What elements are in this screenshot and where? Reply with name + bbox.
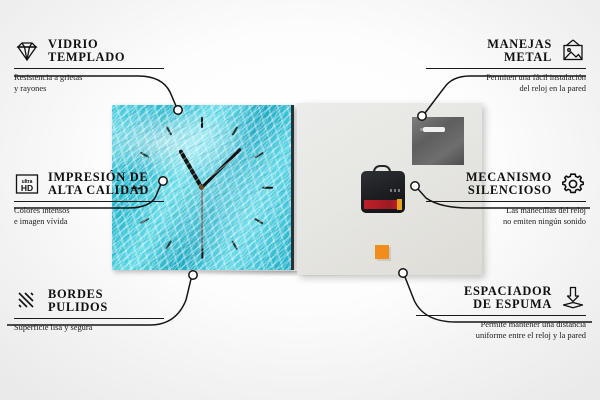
polished-edges-icon [14, 288, 40, 314]
feature-title: ESPACIADOR DE ESPUMA [464, 285, 552, 312]
clock-tick [262, 187, 273, 189]
feature-title-line2: METAL [487, 51, 552, 64]
feature-rule [14, 201, 164, 202]
feature-title: BORDES PULIDOS [48, 288, 108, 315]
feature-description: Permiten una fácil instalación del reloj… [426, 72, 586, 94]
feature-rule [426, 68, 586, 69]
ultra-hd-icon: ultra HD [14, 171, 40, 197]
clock-hour-hand [178, 149, 204, 189]
infographic-canvas: VIDRIO TEMPLADO Resistencia a grietas y … [0, 0, 600, 400]
clock-tick [254, 152, 263, 158]
clock-minute-hand [200, 148, 241, 189]
feature-rule [426, 201, 586, 202]
feature-description: Las manecillas del reloj no emiten ningú… [426, 205, 586, 227]
feature-title-line1: VIDRIO [48, 38, 125, 51]
quartz-movement-box [361, 171, 405, 213]
feature-impresion-alta-calidad: ultra HD IMPRESIÓN DE ALTA CALIDAD Color… [14, 171, 164, 227]
clock-center-pin [199, 185, 204, 190]
feature-title: MECANISMO SILENCIOSO [466, 171, 552, 198]
feature-bordes-pulidos: BORDES PULIDOS Superficie lisa y segura [14, 288, 164, 333]
clock-tick [140, 152, 149, 158]
feature-espaciador-espuma: ESPACIADOR DE ESPUMA Permite mantener un… [416, 285, 586, 341]
feature-title-line2: PULIDOS [48, 301, 108, 314]
foam-spacer-pad [375, 245, 389, 259]
battery-label [364, 200, 398, 209]
feature-title-line2: DE ESPUMA [464, 298, 552, 311]
feature-title-line2: SILENCIOSO [466, 184, 552, 197]
clock-tick [201, 117, 203, 128]
clock-tick [165, 126, 171, 135]
feature-title-line1: ESPACIADOR [464, 285, 552, 298]
feature-title-line1: IMPRESIÓN DE [48, 171, 149, 184]
clock-tick [165, 240, 171, 249]
metal-hanger-plate [412, 117, 464, 165]
svg-text:HD: HD [21, 183, 33, 193]
diamond-icon [14, 38, 40, 64]
clock-tick [201, 248, 203, 259]
clock-tick [231, 240, 237, 249]
feature-vidrio-templado: VIDRIO TEMPLADO Resistencia a grietas y … [14, 38, 164, 94]
feature-title: IMPRESIÓN DE ALTA CALIDAD [48, 171, 149, 198]
movement-hook [373, 165, 391, 174]
feature-description: Superficie lisa y segura [14, 322, 164, 333]
gear-icon [560, 171, 586, 197]
feature-title-line2: ALTA CALIDAD [48, 184, 149, 197]
feature-rule [14, 68, 164, 69]
hanger-slot [423, 127, 445, 132]
clock-tick [254, 218, 263, 224]
picture-frame-icon [560, 38, 586, 64]
feature-title: MANEJAS METAL [487, 38, 552, 65]
feature-title-line1: MANEJAS [487, 38, 552, 51]
feature-mecanismo-silencioso: MECANISMO SILENCIOSO Las manecillas del … [426, 171, 586, 227]
feature-title-line1: BORDES [48, 288, 108, 301]
clock-second-hand [201, 187, 202, 249]
feature-title-line1: MECANISMO [466, 171, 552, 184]
feature-rule [14, 318, 164, 319]
feature-description: Permite mantener una distancia uniforme … [416, 319, 586, 341]
feature-description: Colores intensos e imagen vívida [14, 205, 164, 227]
feature-description: Resistencia a grietas y rayones [14, 72, 164, 94]
feature-rule [416, 315, 586, 316]
feature-manejas-metal: MANEJAS METAL Permiten una fácil instala… [426, 38, 586, 94]
clock-tick [231, 126, 237, 135]
feature-title: VIDRIO TEMPLADO [48, 38, 125, 65]
feature-title-line2: TEMPLADO [48, 51, 125, 64]
movement-dots [390, 189, 401, 192]
foam-spacer-icon [560, 285, 586, 311]
